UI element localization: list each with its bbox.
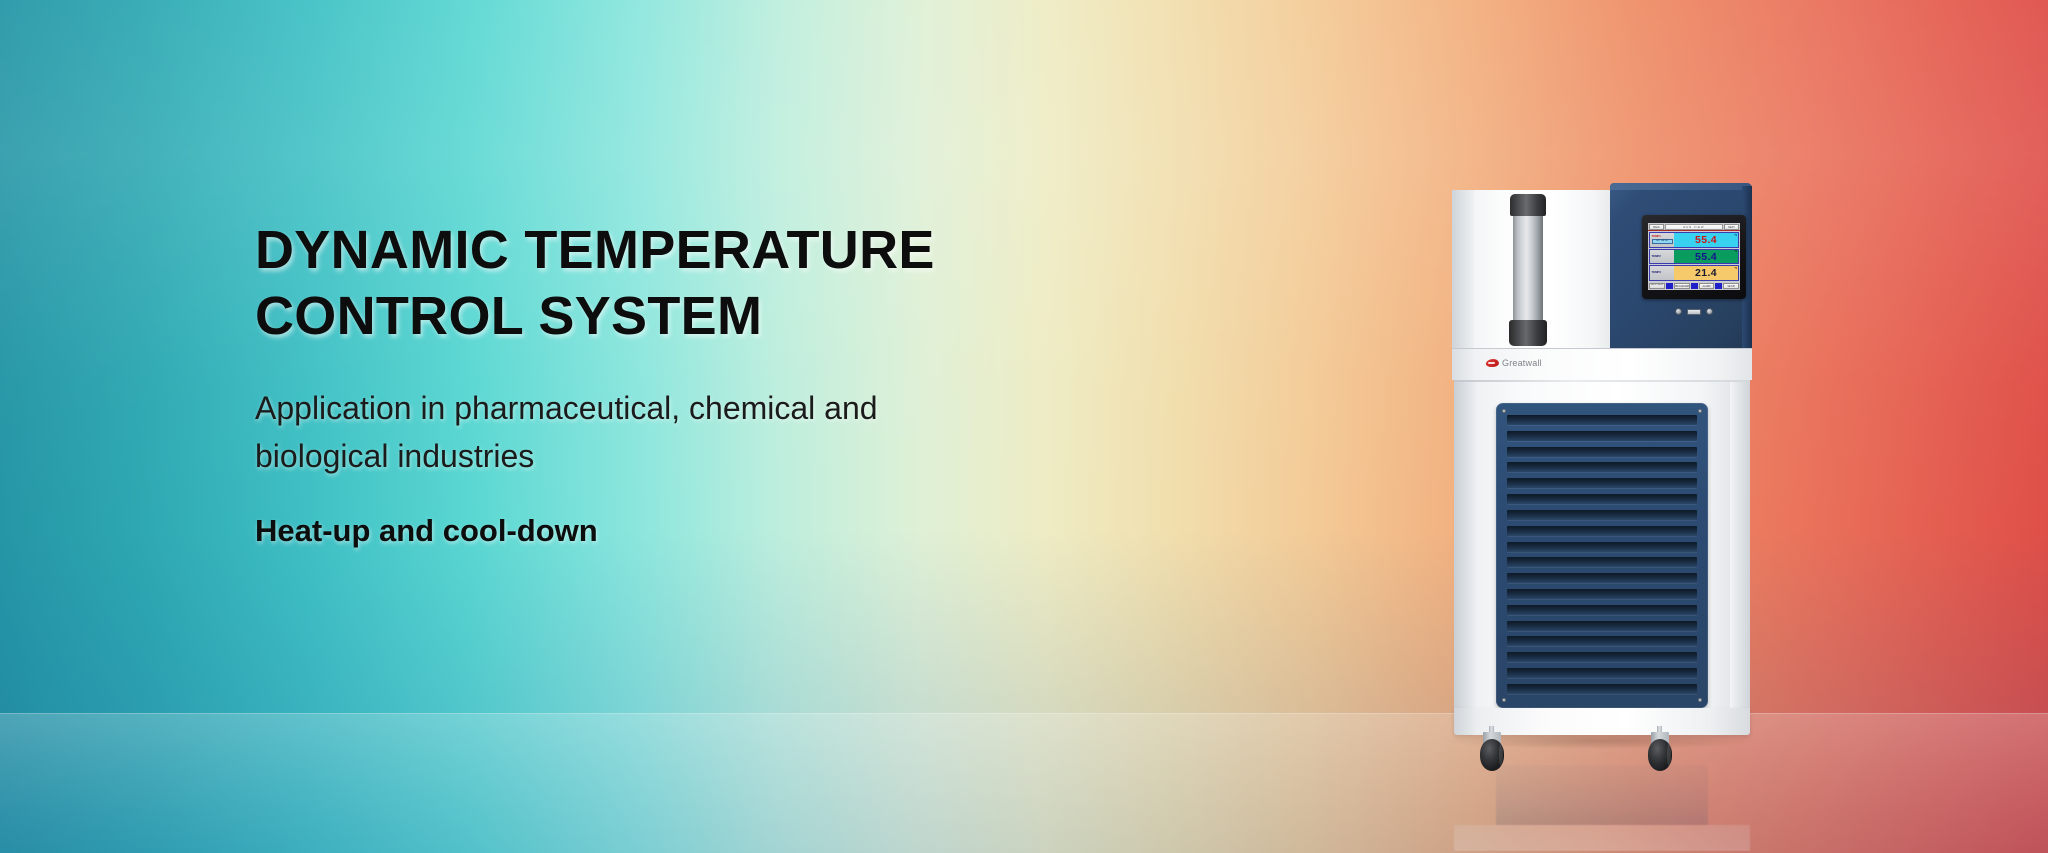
screen-bottombar: AUTO RUN PROGRAMME ALARM RECORD SETUP (1648, 282, 1740, 290)
status-indicator-icon[interactable] (1706, 308, 1713, 315)
screen-setup-button[interactable]: SETUP (1723, 283, 1739, 290)
screen-divider-2 (1691, 283, 1698, 290)
reading-setvalue-1[interactable]: SET VALUE (1652, 239, 1673, 244)
power-indicator-icon[interactable] (1675, 308, 1682, 315)
subheadline: Application in pharmaceutical, chemical … (255, 384, 1155, 481)
ventilation-grille (1496, 403, 1708, 708)
brand-name: Greatwall (1502, 358, 1542, 368)
greatwall-logo-icon (1485, 359, 1499, 367)
grille-louver (1507, 589, 1697, 599)
screen-status-label: AUTO RUN (1649, 283, 1665, 290)
screen-next-button[interactable]: NEXT (1724, 224, 1739, 230)
grille-louver (1507, 462, 1697, 472)
reading-row-1: TEMP1 SET VALUE 55.4 ℃ (1649, 232, 1739, 248)
grille-louver (1507, 431, 1697, 441)
brand-strip: Greatwall (1452, 348, 1752, 380)
reading-label-block-2: TEMP2 (1650, 250, 1674, 264)
tagline: Heat-up and cool-down (255, 513, 1155, 549)
headline: DYNAMIC TEMPERATURE CONTROL SYSTEM (255, 218, 1155, 350)
screen-divider-1 (1666, 283, 1673, 290)
banner-copy: DYNAMIC TEMPERATURE CONTROL SYSTEM Appli… (255, 218, 1155, 549)
screen-back-button[interactable]: BACK (1649, 224, 1664, 230)
caster-wheel-icon-right (1648, 739, 1672, 771)
reading-value-3: 21.4 (1695, 267, 1717, 279)
headline-line-2: CONTROL SYSTEM (255, 284, 1155, 350)
cabinet-top-seam (1454, 380, 1750, 382)
grille-louver (1507, 652, 1697, 662)
reading-value-2: 55.4 (1695, 251, 1717, 263)
grille-louver (1507, 605, 1697, 615)
grille-screw-top-left (1502, 409, 1506, 413)
grille-louver (1507, 668, 1697, 678)
reading-label-1: TEMP1 (1652, 235, 1675, 238)
reading-row-2: TEMP2 55.4 ℃ (1649, 249, 1739, 265)
hmi-screen-bezel: BACK RUN VIEW NEXT TEMP1 SET VALUE 55.4 (1642, 215, 1746, 299)
grille-screw-top-right (1698, 409, 1702, 413)
subheadline-line-2: biological industries (255, 432, 1155, 481)
cabinet-base (1454, 708, 1750, 735)
reading-value-block-3: 21.4 ℃ (1674, 266, 1738, 280)
cylinder-tube (1513, 208, 1543, 330)
reading-unit-3: ℃ (1734, 267, 1737, 270)
machine-head: BACK RUN VIEW NEXT TEMP1 SET VALUE 55.4 (1452, 183, 1752, 348)
screen-alarm-record-button[interactable]: ALARM RECORD (1699, 283, 1715, 290)
grille-louver (1507, 557, 1697, 567)
screen-title: RUN VIEW (1665, 224, 1723, 230)
cylinder-cap-bottom (1509, 320, 1547, 346)
grille-louver (1507, 494, 1697, 504)
reading-row-3: TEMP3 21.4 ℃ (1649, 265, 1739, 281)
sight-glass-cylinder (1510, 192, 1546, 346)
usb-port-icon[interactable] (1687, 309, 1701, 315)
grille-louver (1507, 447, 1697, 457)
reading-value-1: 55.4 (1695, 234, 1717, 246)
caster-wheel-icon-left (1480, 739, 1504, 771)
reading-value-block-2: 55.4 ℃ (1674, 250, 1738, 264)
head-left-bevel (1452, 190, 1474, 348)
screen-programme-button[interactable]: PROGRAMME (1674, 283, 1690, 290)
caster-wheel-right (1648, 732, 1672, 774)
grille-screw-bottom-right (1698, 698, 1702, 702)
grille-louver (1507, 415, 1697, 425)
reading-label-2: TEMP2 (1652, 255, 1675, 258)
headline-line-1: DYNAMIC TEMPERATURE (255, 218, 1155, 284)
reading-unit-1: ℃ (1734, 234, 1737, 237)
reading-label-3: TEMP3 (1652, 271, 1675, 274)
grille-louver (1507, 636, 1697, 646)
grille-louvers (1507, 415, 1697, 694)
caster-wheel-left (1480, 732, 1504, 774)
screen-reading-rows: TEMP1 SET VALUE 55.4 ℃ TEMP2 (1648, 231, 1740, 282)
banner-stage: DYNAMIC TEMPERATURE CONTROL SYSTEM Appli… (0, 0, 2048, 853)
cabinet-right-bevel (1730, 380, 1750, 731)
reading-label-block-1: TEMP1 SET VALUE (1650, 233, 1674, 247)
grille-louver (1507, 526, 1697, 536)
grille-louver (1507, 542, 1697, 552)
reading-value-block-1: 55.4 ℃ (1674, 233, 1738, 247)
panel-button-row (1663, 307, 1725, 316)
grille-louver (1507, 478, 1697, 488)
cylinder-cap-top (1510, 194, 1546, 216)
brand-logo: Greatwall (1486, 358, 1542, 368)
screen-divider-3 (1715, 283, 1722, 290)
cabinet-left-bevel (1454, 380, 1478, 731)
screen-topbar: BACK RUN VIEW NEXT (1648, 223, 1740, 231)
grille-screw-bottom-left (1502, 698, 1506, 702)
grille-louver (1507, 621, 1697, 631)
subheadline-line-1: Application in pharmaceutical, chemical … (255, 384, 1155, 433)
reading-label-block-3: TEMP3 (1650, 266, 1674, 280)
grille-louver (1507, 684, 1697, 694)
hmi-screen[interactable]: BACK RUN VIEW NEXT TEMP1 SET VALUE 55.4 (1648, 223, 1740, 290)
grille-louver (1507, 573, 1697, 583)
control-head-top-edge (1610, 183, 1752, 190)
reading-unit-2: ℃ (1734, 250, 1737, 253)
temperature-control-unit: BACK RUN VIEW NEXT TEMP1 SET VALUE 55.4 (1452, 183, 1752, 743)
grille-louver (1507, 510, 1697, 520)
